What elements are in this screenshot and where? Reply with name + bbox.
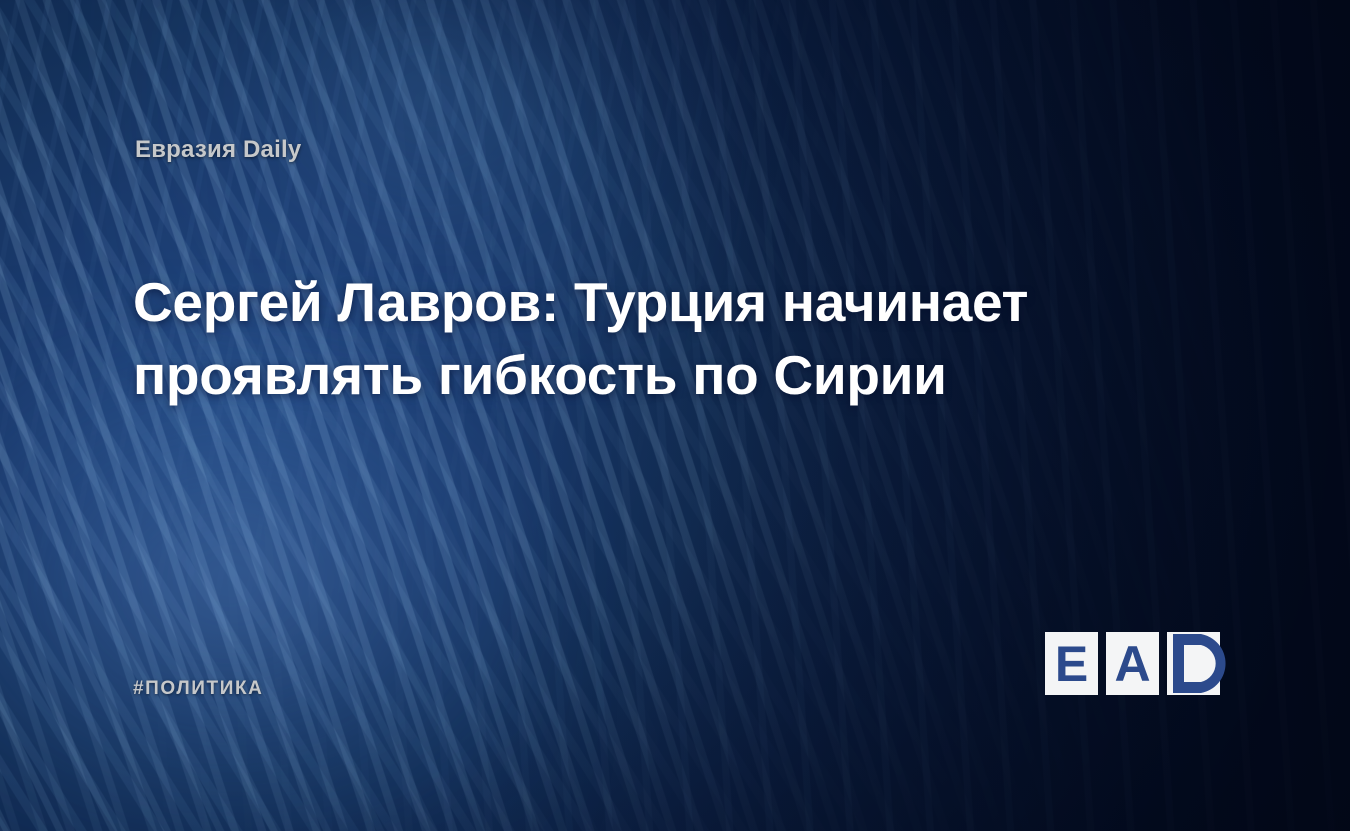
news-share-card: Евразия Daily Сергей Лавров: Турция начи… xyxy=(0,0,1350,831)
logo-tile-e: E xyxy=(1045,632,1098,695)
eadaily-logo[interactable]: E A xyxy=(1045,632,1240,696)
logo-letter-e: E xyxy=(1045,632,1098,695)
logo-tile-a: A xyxy=(1106,632,1159,695)
logo-letter-a: A xyxy=(1106,632,1159,695)
category-hashtag[interactable]: #ПОЛИТИКА xyxy=(133,678,264,700)
card-content: Евразия Daily Сергей Лавров: Турция начи… xyxy=(0,0,1350,831)
logo-letter-d xyxy=(1167,632,1257,695)
brand-name: Евразия Daily xyxy=(135,136,301,164)
headline: Сергей Лавров: Турция начинает проявлять… xyxy=(133,266,1053,412)
logo-d-icon xyxy=(1167,632,1257,695)
